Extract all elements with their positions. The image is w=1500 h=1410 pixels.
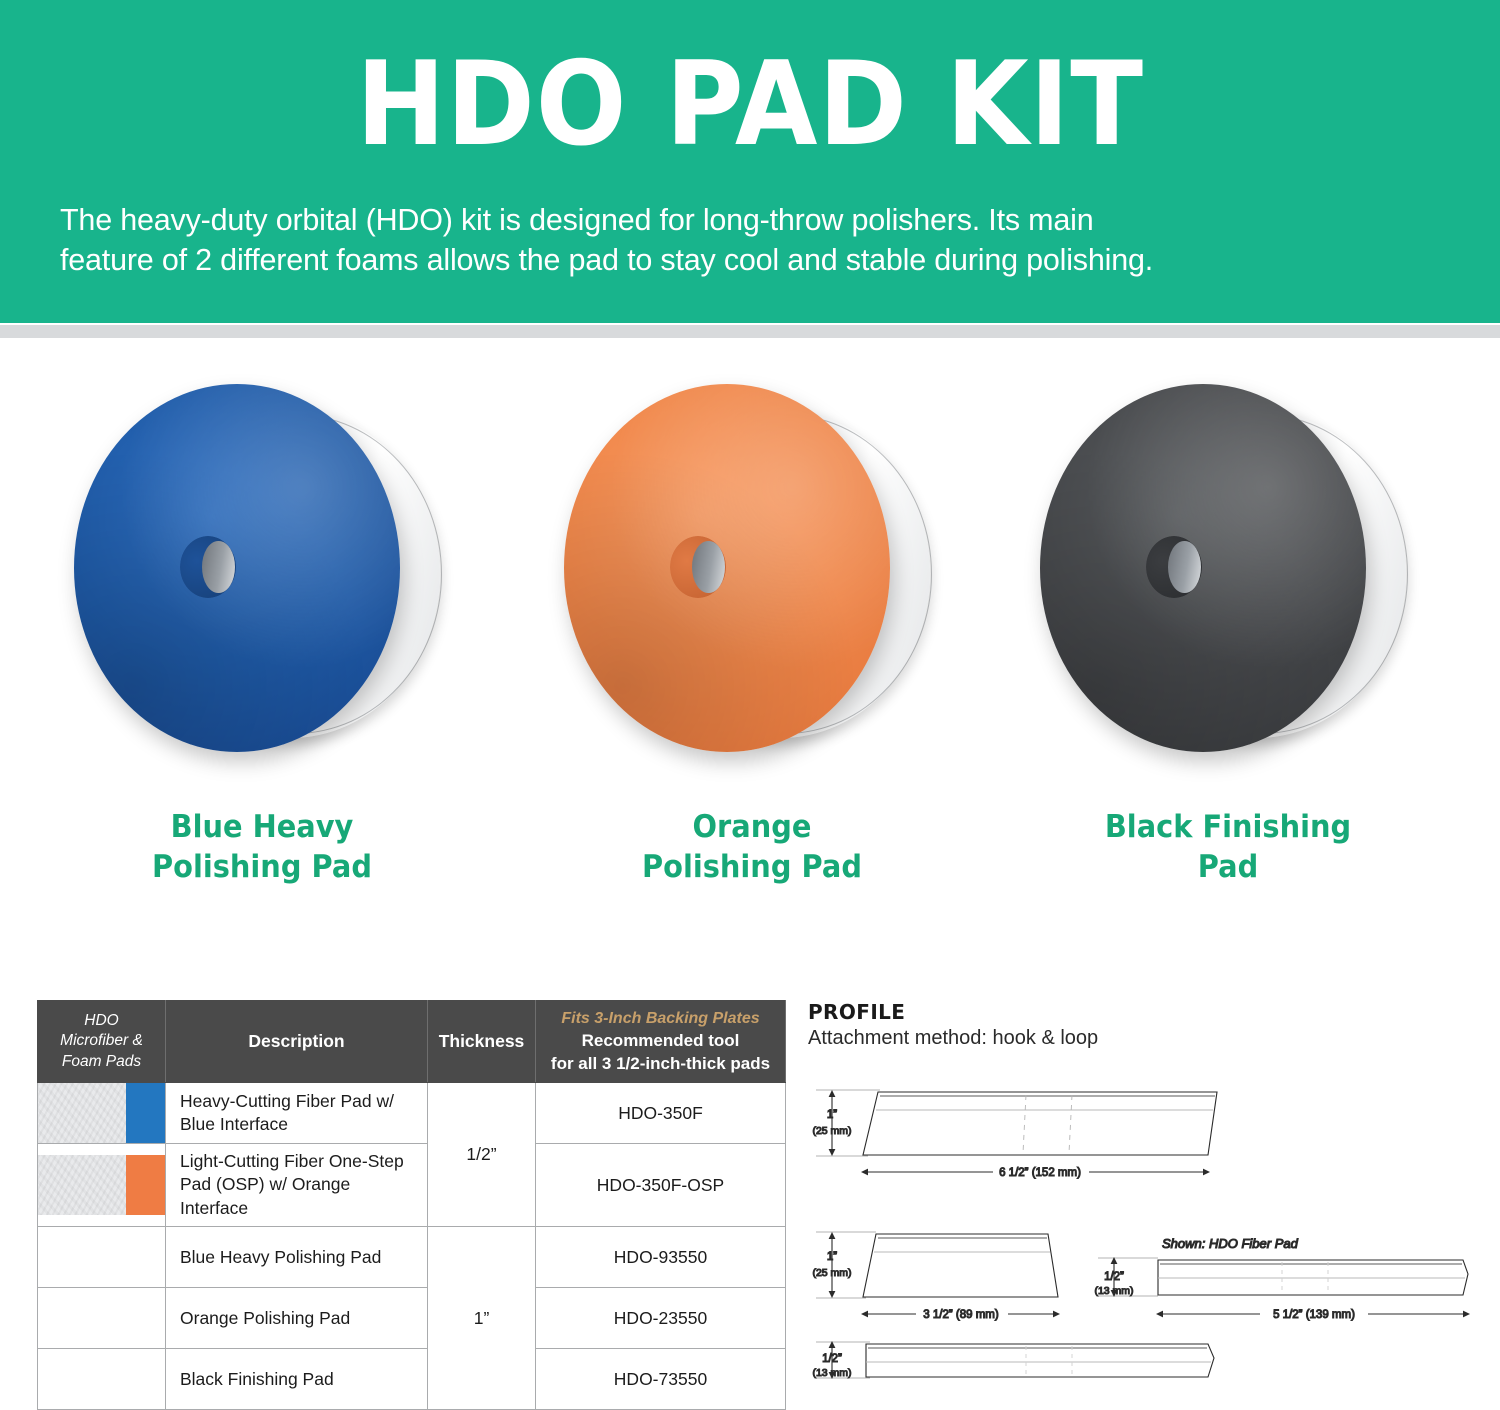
- page-title: HDO PAD KIT: [60, 44, 1440, 166]
- tool-cell: HDO-23550: [536, 1288, 786, 1349]
- swatch-cell-orange: [38, 1288, 166, 1349]
- profile-diagrams: 1” (25 mm) 6 1/2” (152 mm) 1” (25 mm) 3: [808, 1052, 1488, 1388]
- product-showcase: Blue Heavy Polishing Pad Orange Polishin…: [0, 360, 1500, 920]
- table-row: Orange Polishing Pad HDO-23550: [38, 1288, 786, 1349]
- profile-panel: PROFILE Attachment method: hook & loop: [808, 1000, 1488, 1388]
- header-swatch-line1: HDO: [84, 1012, 118, 1029]
- header-tool-eyebrow: Fits 3-Inch Backing Plates: [542, 1009, 779, 1029]
- header-swatch-line2: Microfiber &: [60, 1032, 143, 1049]
- caption-line2: Polishing Pad: [39, 848, 485, 888]
- caption-line1: Blue Heavy: [39, 808, 485, 848]
- product-black-finishing-pad: Black Finishing Pad: [988, 360, 1468, 920]
- caption-line2: Polishing Pad: [529, 848, 975, 888]
- swatch-fiber-orange: [38, 1155, 165, 1215]
- tool-cell: HDO-93550: [536, 1227, 786, 1288]
- dim2-height-mm: (25 mm): [812, 1267, 851, 1279]
- dim4-height-mm: (13 mm): [812, 1367, 851, 1379]
- header-thickness: Thickness: [428, 1001, 536, 1083]
- profile-note-shown: Shown: HDO Fiber Pad: [1162, 1236, 1299, 1251]
- description-cell: Black Finishing Pad: [166, 1349, 428, 1410]
- product-caption-black: Black Finishing Pad: [1005, 808, 1451, 887]
- caption-line2: Pad: [1005, 848, 1451, 888]
- banner-subtitle: The heavy-duty orbital (HDO) kit is desi…: [60, 200, 1450, 281]
- pad-spec-table: HDO Microfiber & Foam Pads Description T…: [37, 1000, 786, 1410]
- banner-subtitle-line2: feature of 2 different foams allows the …: [60, 240, 1450, 280]
- swatch-solid-blue: [38, 1227, 165, 1287]
- thickness-cell-half-inch: 1/2”: [428, 1083, 536, 1227]
- foam-face-blue: [74, 384, 400, 752]
- description-cell: Blue Heavy Polishing Pad: [166, 1227, 428, 1288]
- header-recommended-tool: Fits 3-Inch Backing Plates Recommended t…: [536, 1001, 786, 1083]
- header-banner: HDO PAD KIT The heavy-duty orbital (HDO)…: [0, 0, 1500, 323]
- tool-cell: HDO-350F-OSP: [536, 1144, 786, 1227]
- foam-face-black: [1040, 384, 1366, 752]
- banner-subtitle-line1: The heavy-duty orbital (HDO) kit is desi…: [60, 200, 1450, 240]
- thickness-cell-one-inch: 1”: [428, 1227, 536, 1410]
- table-row: Blue Heavy Polishing Pad 1” HDO-93550: [38, 1227, 786, 1288]
- description-cell: Orange Polishing Pad: [166, 1288, 428, 1349]
- tool-cell: HDO-350F: [536, 1083, 786, 1144]
- dim3-width: 5 1/2” (139 mm): [1273, 1309, 1355, 1321]
- dim2-height-in: 1”: [827, 1251, 837, 1263]
- dim2-width: 3 1/2” (89 mm): [923, 1309, 999, 1321]
- profile-title: PROFILE: [808, 1000, 1488, 1024]
- dim1-width: 6 1/2” (152 mm): [999, 1167, 1081, 1179]
- caption-line1: Black Finishing: [1005, 808, 1451, 848]
- header-description: Description: [166, 1001, 428, 1083]
- description-line2: Blue Interface: [180, 1114, 288, 1134]
- profile-subtitle: Attachment method: hook & loop: [808, 1027, 1488, 1050]
- swatch-cell-black: [38, 1349, 166, 1410]
- table-header-row: HDO Microfiber & Foam Pads Description T…: [38, 1001, 786, 1083]
- center-hole-blue: [180, 536, 236, 598]
- description-line2: Pad (OSP) w/ Orange Interface: [180, 1174, 350, 1217]
- tool-cell: HDO-73550: [536, 1349, 786, 1410]
- swatch-solid-black: [38, 1349, 165, 1409]
- product-blue-heavy-polishing-pad: Blue Heavy Polishing Pad: [22, 360, 502, 920]
- foam-face-orange: [564, 384, 890, 752]
- dim1-height-in: 1”: [827, 1109, 837, 1121]
- header-tool-line2: for all 3 1/2-inch-thick pads: [542, 1053, 779, 1074]
- dim3-height-in: 1/2”: [1104, 1271, 1124, 1283]
- dim4-height-in: 1/2”: [822, 1353, 842, 1365]
- swatch-cell-fiber-blue: [38, 1083, 166, 1144]
- caption-line1: Orange: [529, 808, 975, 848]
- pad-image-blue: [62, 368, 462, 768]
- product-caption-blue: Blue Heavy Polishing Pad: [39, 808, 485, 887]
- swatch-solid-orange: [38, 1288, 165, 1348]
- header-tool-line1: Recommended tool: [542, 1030, 779, 1051]
- divider-strip: [0, 325, 1500, 338]
- center-hole-orange: [670, 536, 726, 598]
- table-row: Black Finishing Pad HDO-73550: [38, 1349, 786, 1410]
- header-swatch-line3: Foam Pads: [62, 1053, 141, 1070]
- swatch-cell-fiber-orange: [38, 1144, 166, 1227]
- description-line1: Light-Cutting Fiber One-Step: [180, 1151, 404, 1171]
- pad-image-orange: [552, 368, 952, 768]
- pad-image-black: [1028, 368, 1428, 768]
- dim1-height-mm: (25 mm): [812, 1125, 851, 1137]
- center-hole-black: [1146, 536, 1202, 598]
- swatch-cell-blue: [38, 1227, 166, 1288]
- profile-diagram-4: [816, 1341, 1214, 1379]
- table-row: Light-Cutting Fiber One-Step Pad (OSP) w…: [38, 1144, 786, 1227]
- spec-table: HDO Microfiber & Foam Pads Description T…: [37, 1000, 785, 1410]
- header-swatch: HDO Microfiber & Foam Pads: [38, 1001, 166, 1083]
- product-caption-orange: Orange Polishing Pad: [529, 808, 975, 887]
- description-cell: Light-Cutting Fiber One-Step Pad (OSP) w…: [166, 1144, 428, 1227]
- description-cell: Heavy-Cutting Fiber Pad w/ Blue Interfac…: [166, 1083, 428, 1144]
- table-row: Heavy-Cutting Fiber Pad w/ Blue Interfac…: [38, 1083, 786, 1144]
- swatch-fiber-blue: [38, 1083, 165, 1143]
- dim3-height-mm: (13 mm): [1094, 1285, 1133, 1297]
- description-line1: Heavy-Cutting Fiber Pad w/: [180, 1091, 394, 1111]
- product-orange-polishing-pad: Orange Polishing Pad: [512, 360, 992, 920]
